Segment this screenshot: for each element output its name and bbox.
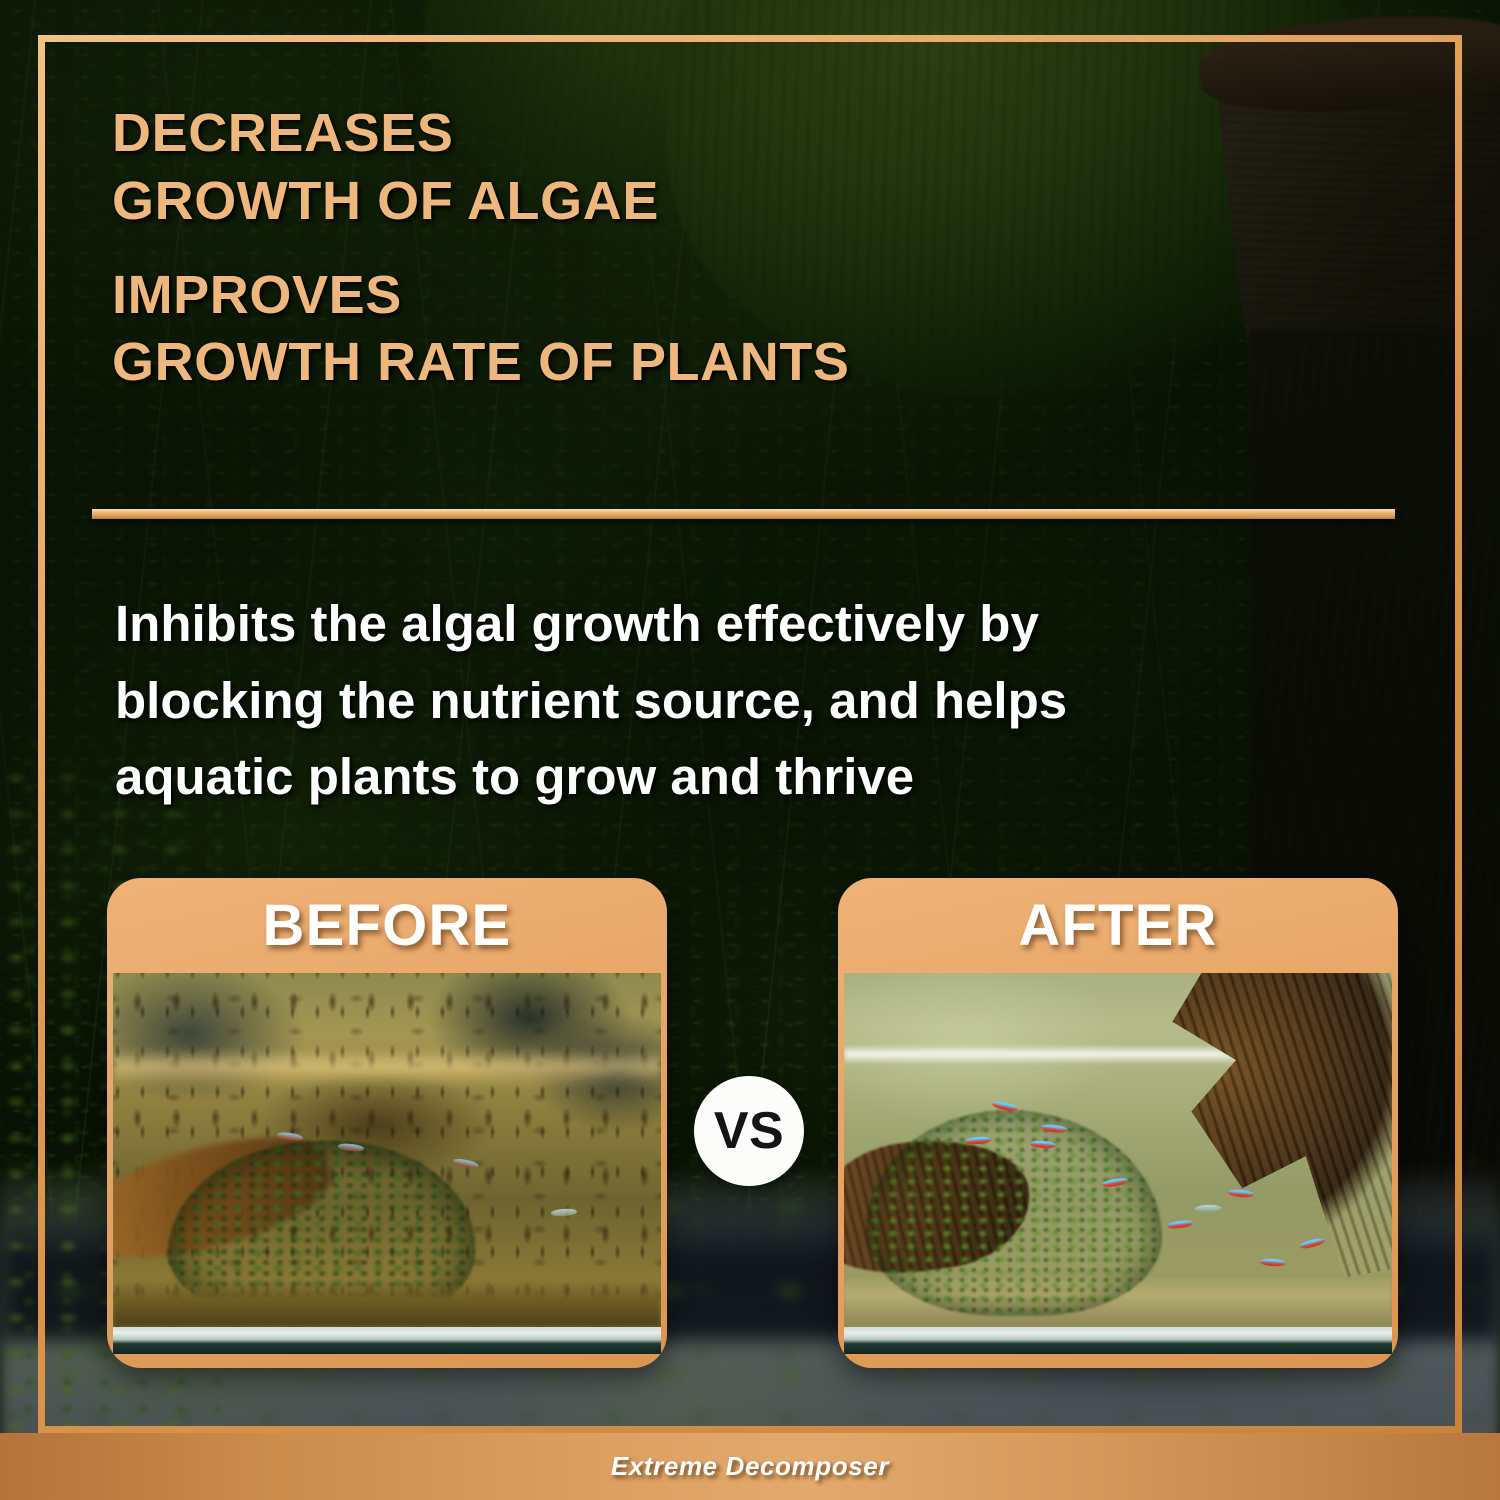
after-card-title: AFTER [838,878,1398,973]
headline-line: DECREASES [112,100,1262,168]
footer-bar: Extreme Decomposer [0,1433,1500,1500]
after-card: AFTER [838,878,1398,1368]
before-card: BEFORE [107,878,667,1368]
before-substrate [113,1282,661,1328]
headline-block-1: DECREASES GROWTH OF ALGAE [112,100,1262,236]
description-paragraph: Inhibits the algal growth effectively by… [115,586,1345,816]
description-line: aquatic plants to grow and thrive [115,739,1345,816]
description-line: Inhibits the algal growth effectively by [115,586,1345,663]
gold-divider-rule [92,509,1395,519]
headline-line: IMPROVES [112,262,1262,330]
before-light-streak [113,1049,661,1087]
after-tank-rim [844,1327,1392,1354]
versus-label: VS [714,1101,784,1161]
infographic-content: DECREASES GROWTH OF ALGAE IMPROVES GROWT… [0,0,1500,1500]
brand-name: Extreme Decomposer [611,1451,889,1482]
versus-badge: VS [694,1076,804,1186]
description-line: blocking the nutrient source, and helps [115,663,1345,740]
headline-line: GROWTH RATE OF PLANTS [112,329,1262,397]
headline-group: DECREASES GROWTH OF ALGAE IMPROVES GROWT… [112,100,1262,397]
before-tank-rim [113,1327,661,1354]
headline-block-2: IMPROVES GROWTH RATE OF PLANTS [112,262,1262,398]
after-aquarium-photo [844,973,1392,1354]
before-aquarium-photo [113,973,661,1354]
headline-line: GROWTH OF ALGAE [112,168,1262,236]
before-card-title: BEFORE [107,878,667,973]
